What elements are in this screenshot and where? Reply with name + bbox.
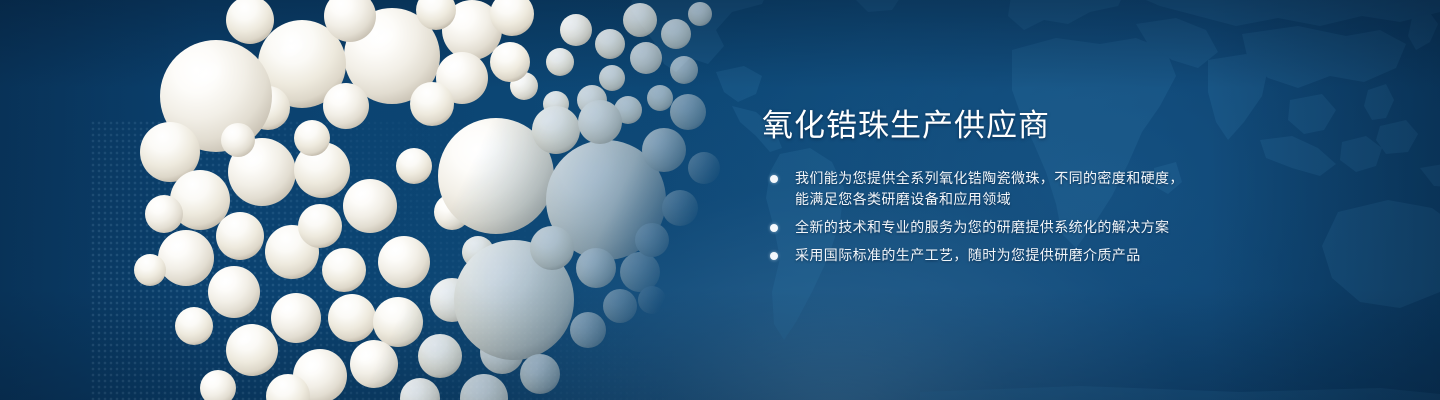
banner-headline: 氧化锆珠生产供应商 — [762, 110, 1050, 141]
bullet-line: 采用国际标准的生产工艺，随时为您提供研磨介质产品 — [795, 245, 1227, 266]
bullet-text: 全新的技术和专业的服务为您的研磨提供系统化的解决方案 — [795, 217, 1227, 238]
bullet-dot-icon — [770, 224, 778, 232]
bullet-dot-icon — [770, 252, 778, 260]
banner-text-block: 氧化锆珠生产供应商 我们能为您提供全系列氧化锆陶瓷微珠，不同的密度和硬度， 能满… — [762, 0, 1282, 400]
list-item: 采用国际标准的生产工艺，随时为您提供研磨介质产品 — [767, 245, 1227, 266]
banner-feature-list: 我们能为您提供全系列氧化锆陶瓷微珠，不同的密度和硬度， 能满足您各类研磨设备和应… — [767, 168, 1227, 266]
list-item: 全新的技术和专业的服务为您的研磨提供系统化的解决方案 — [767, 217, 1227, 238]
bullet-line: 能满足您各类研磨设备和应用领域 — [795, 189, 1227, 210]
hero-banner: 氧化锆珠生产供应商 我们能为您提供全系列氧化锆陶瓷微珠，不同的密度和硬度， 能满… — [0, 0, 1440, 400]
bullet-dot-icon — [770, 175, 778, 183]
bullet-line: 全新的技术和专业的服务为您的研磨提供系统化的解决方案 — [795, 217, 1227, 238]
bullet-text: 我们能为您提供全系列氧化锆陶瓷微珠，不同的密度和硬度， 能满足您各类研磨设备和应… — [795, 168, 1227, 210]
list-item: 我们能为您提供全系列氧化锆陶瓷微珠，不同的密度和硬度， 能满足您各类研磨设备和应… — [767, 168, 1227, 210]
bullet-text: 采用国际标准的生产工艺，随时为您提供研磨介质产品 — [795, 245, 1227, 266]
bullet-line: 我们能为您提供全系列氧化锆陶瓷微珠，不同的密度和硬度， — [795, 168, 1227, 189]
